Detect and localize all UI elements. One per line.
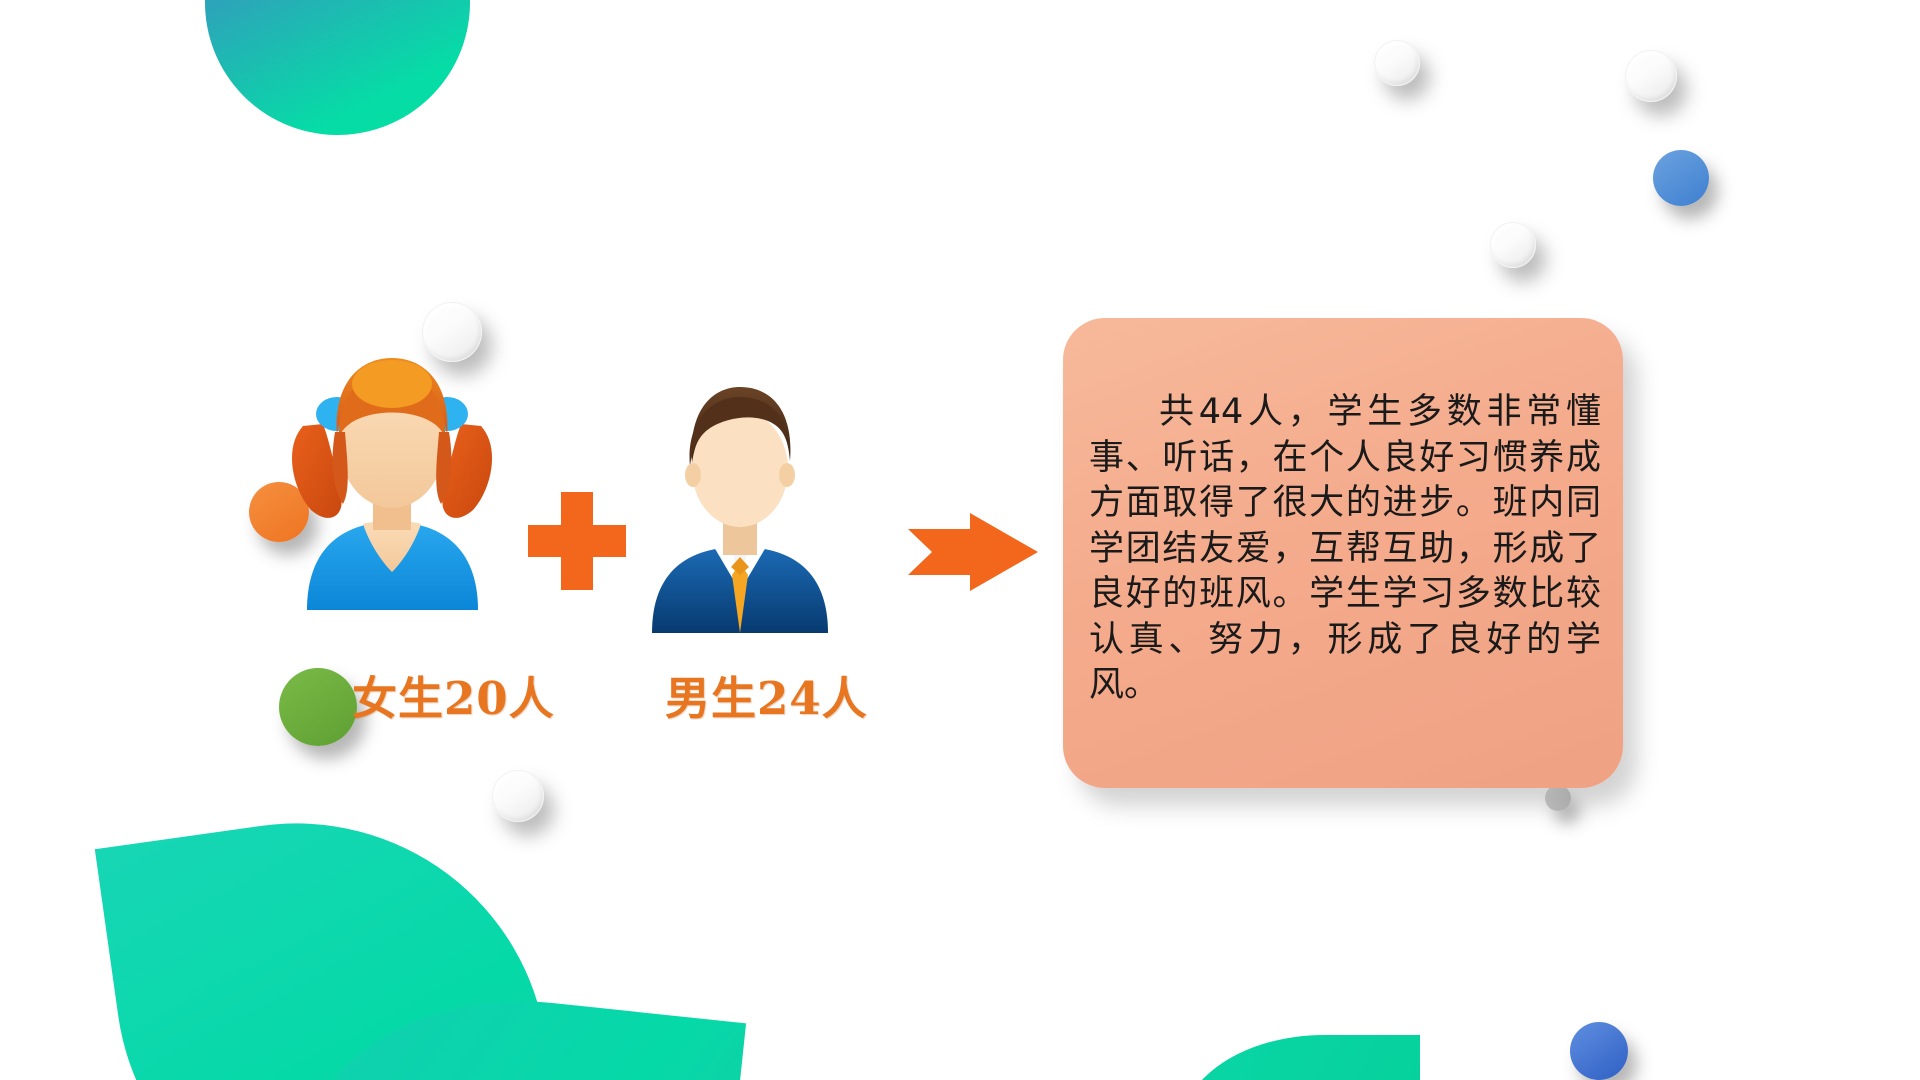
white-pearl-icon — [1490, 222, 1536, 268]
female-count-label: 女生20人 — [352, 662, 555, 727]
female-avatar-icon — [285, 340, 500, 610]
blue-dot-icon — [1570, 1022, 1628, 1080]
white-pearl-icon — [1625, 50, 1677, 102]
summary-text-card: 共44人，学生多数非常懂事、听话，在个人良好习惯养成方面取得了很大的进步。班内同… — [1063, 318, 1623, 788]
white-pearl-icon — [1374, 40, 1420, 86]
teal-blue-leaf-shape-icon — [171, 0, 505, 169]
right-arrow-icon — [908, 513, 1038, 591]
green-dot-icon — [279, 668, 357, 746]
gray-dot-icon — [1545, 785, 1571, 811]
white-pearl-icon — [492, 770, 544, 822]
slide-canvas: 女生20人 男生24人 共44人，学生多数非常懂事、听话，在个人良好习惯养成方面… — [0, 0, 1920, 1080]
summary-paragraph: 共44人，学生多数非常懂事、听话，在个人良好习惯养成方面取得了很大的进步。班内同… — [1089, 390, 1601, 709]
male-avatar-icon — [640, 375, 840, 633]
blue-dot-icon — [1653, 150, 1709, 206]
male-count-label: 男生24人 — [665, 662, 868, 727]
teal-corner-shape-icon — [1180, 1035, 1420, 1080]
plus-operator-icon — [528, 492, 626, 590]
